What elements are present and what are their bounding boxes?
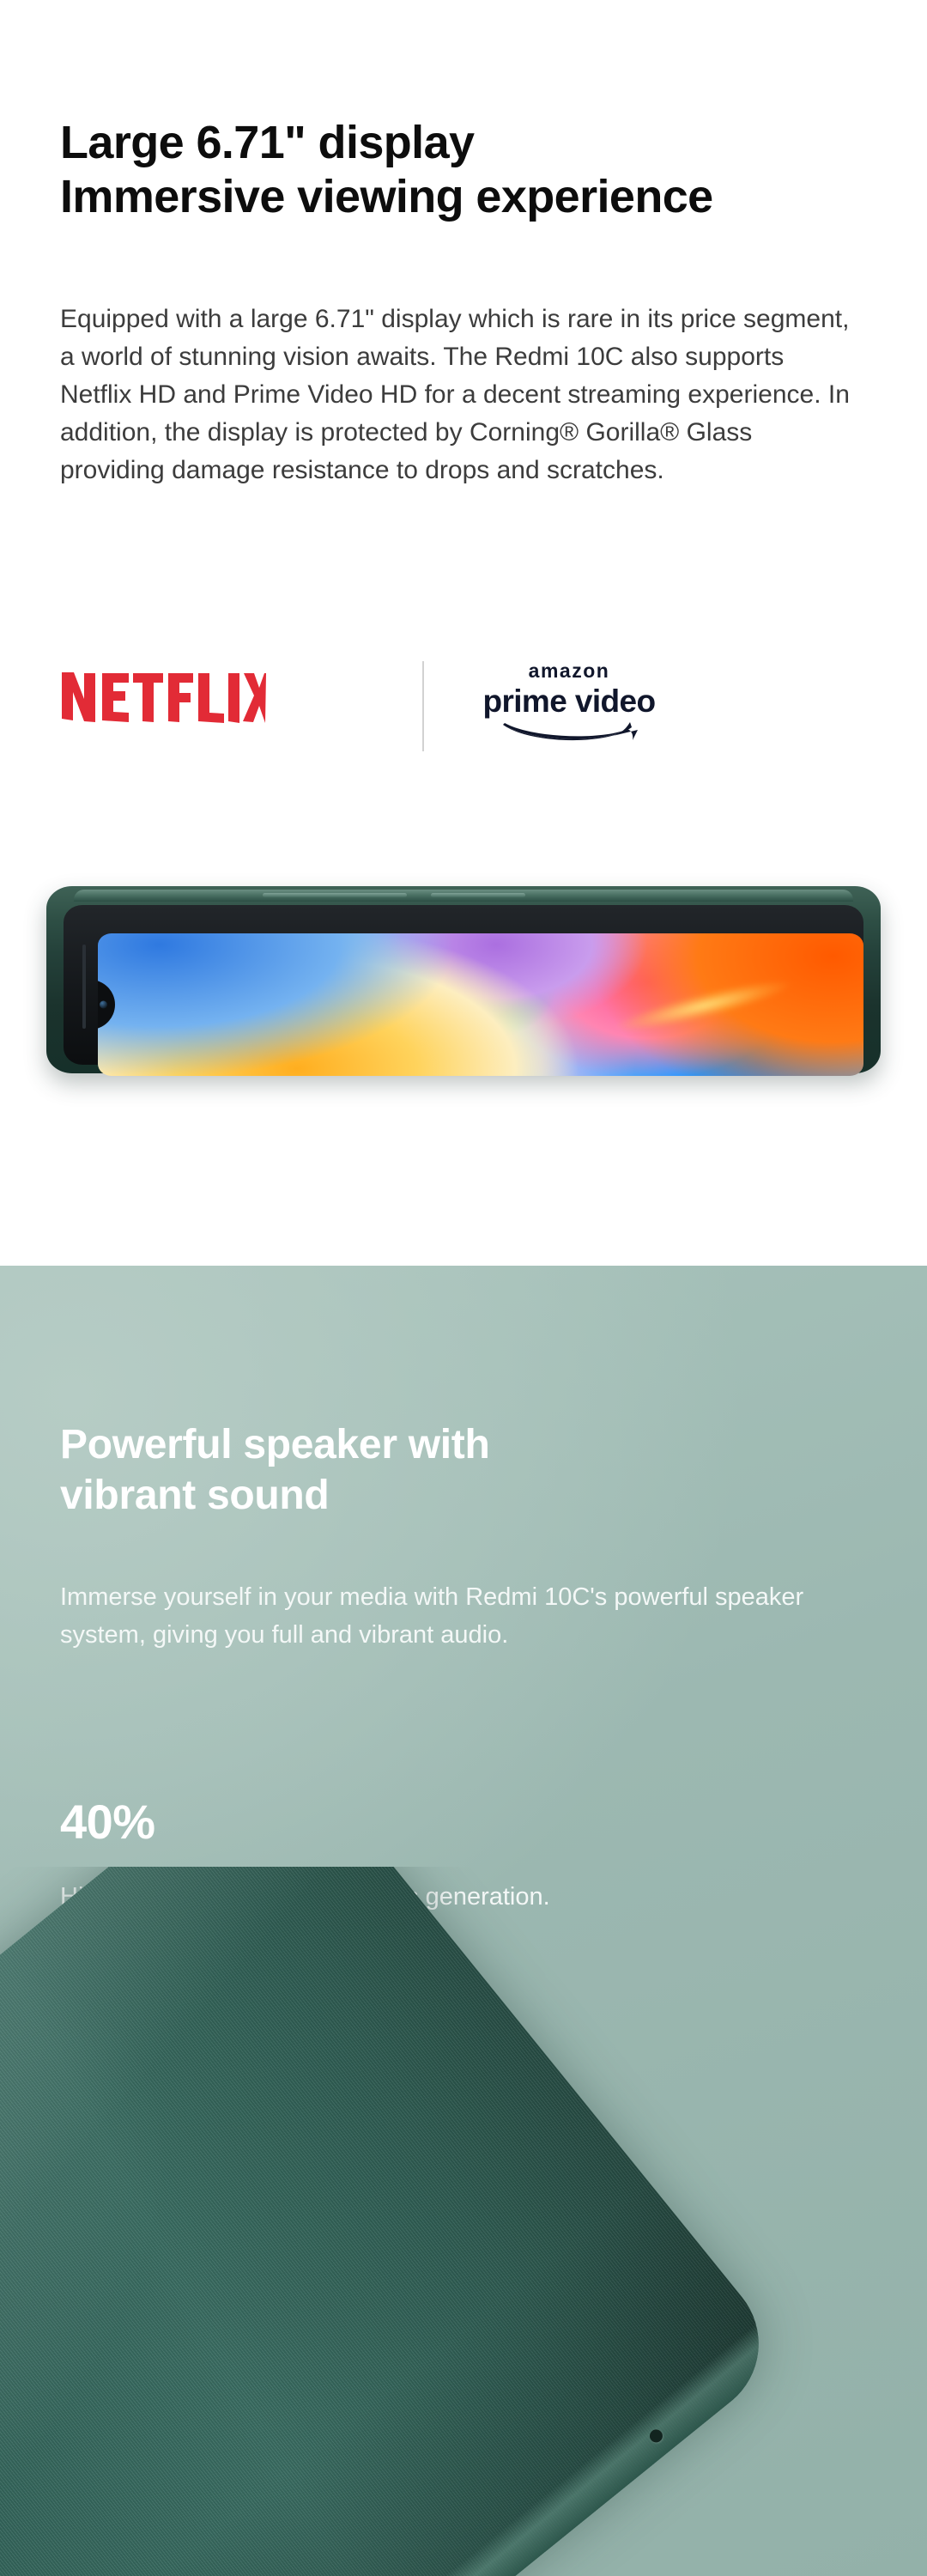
- speaker-heading-line-1: Powerful speaker with: [60, 1420, 833, 1471]
- waterdrop-notch-icon: [98, 980, 115, 1030]
- phone-reflection: [0, 1063, 927, 1266]
- phone-back-sheen: [0, 1867, 789, 2576]
- power-button-icon: [263, 893, 407, 897]
- speaker-heading-line-2: vibrant sound: [60, 1471, 833, 1522]
- volume-stat-value: 40%: [60, 1794, 155, 1850]
- wallpaper-light-streak: [587, 963, 817, 1049]
- display-feature-section: Large 6.71" display Immersive viewing ex…: [0, 0, 927, 1266]
- prime-video-wordmark: prime video: [462, 681, 676, 721]
- phone-back-device: [0, 1867, 789, 2576]
- amazon-wordmark: amazon: [462, 661, 676, 681]
- display-section-body-text: Equipped with a large 6.71" display whic…: [60, 301, 850, 489]
- speaker-section-body-text: Immerse yourself in your media with Redm…: [60, 1579, 815, 1654]
- phone-screen-wallpaper: [98, 933, 863, 1076]
- display-heading-line-2: Immersive viewing experience: [60, 170, 875, 224]
- phone-bezel: [64, 905, 863, 1065]
- amazon-prime-video-logo: amazon prime video: [462, 661, 676, 756]
- amazon-smile-arrow-icon: [462, 721, 676, 747]
- display-section-heading: Large 6.71" display Immersive viewing ex…: [60, 116, 875, 223]
- streaming-brand-logos: amazon prime video: [60, 661, 609, 756]
- speaker-feature-section: Powerful speaker with vibrant sound Imme…: [0, 1266, 927, 2576]
- netflix-logo: [60, 670, 266, 723]
- display-heading-line-1: Large 6.71" display: [60, 116, 875, 170]
- volume-button-icon: [431, 893, 525, 897]
- front-camera-icon: [100, 1001, 107, 1009]
- logo-divider: [422, 661, 424, 751]
- phone-front-device: [46, 886, 881, 1073]
- side-key: [82, 945, 86, 1029]
- phone-frame: [46, 886, 881, 1073]
- redmi-10c-front-image: [0, 867, 927, 1266]
- redmi-10c-back-image: [0, 1867, 927, 2576]
- speaker-section-heading: Powerful speaker with vibrant sound: [60, 1420, 833, 1521]
